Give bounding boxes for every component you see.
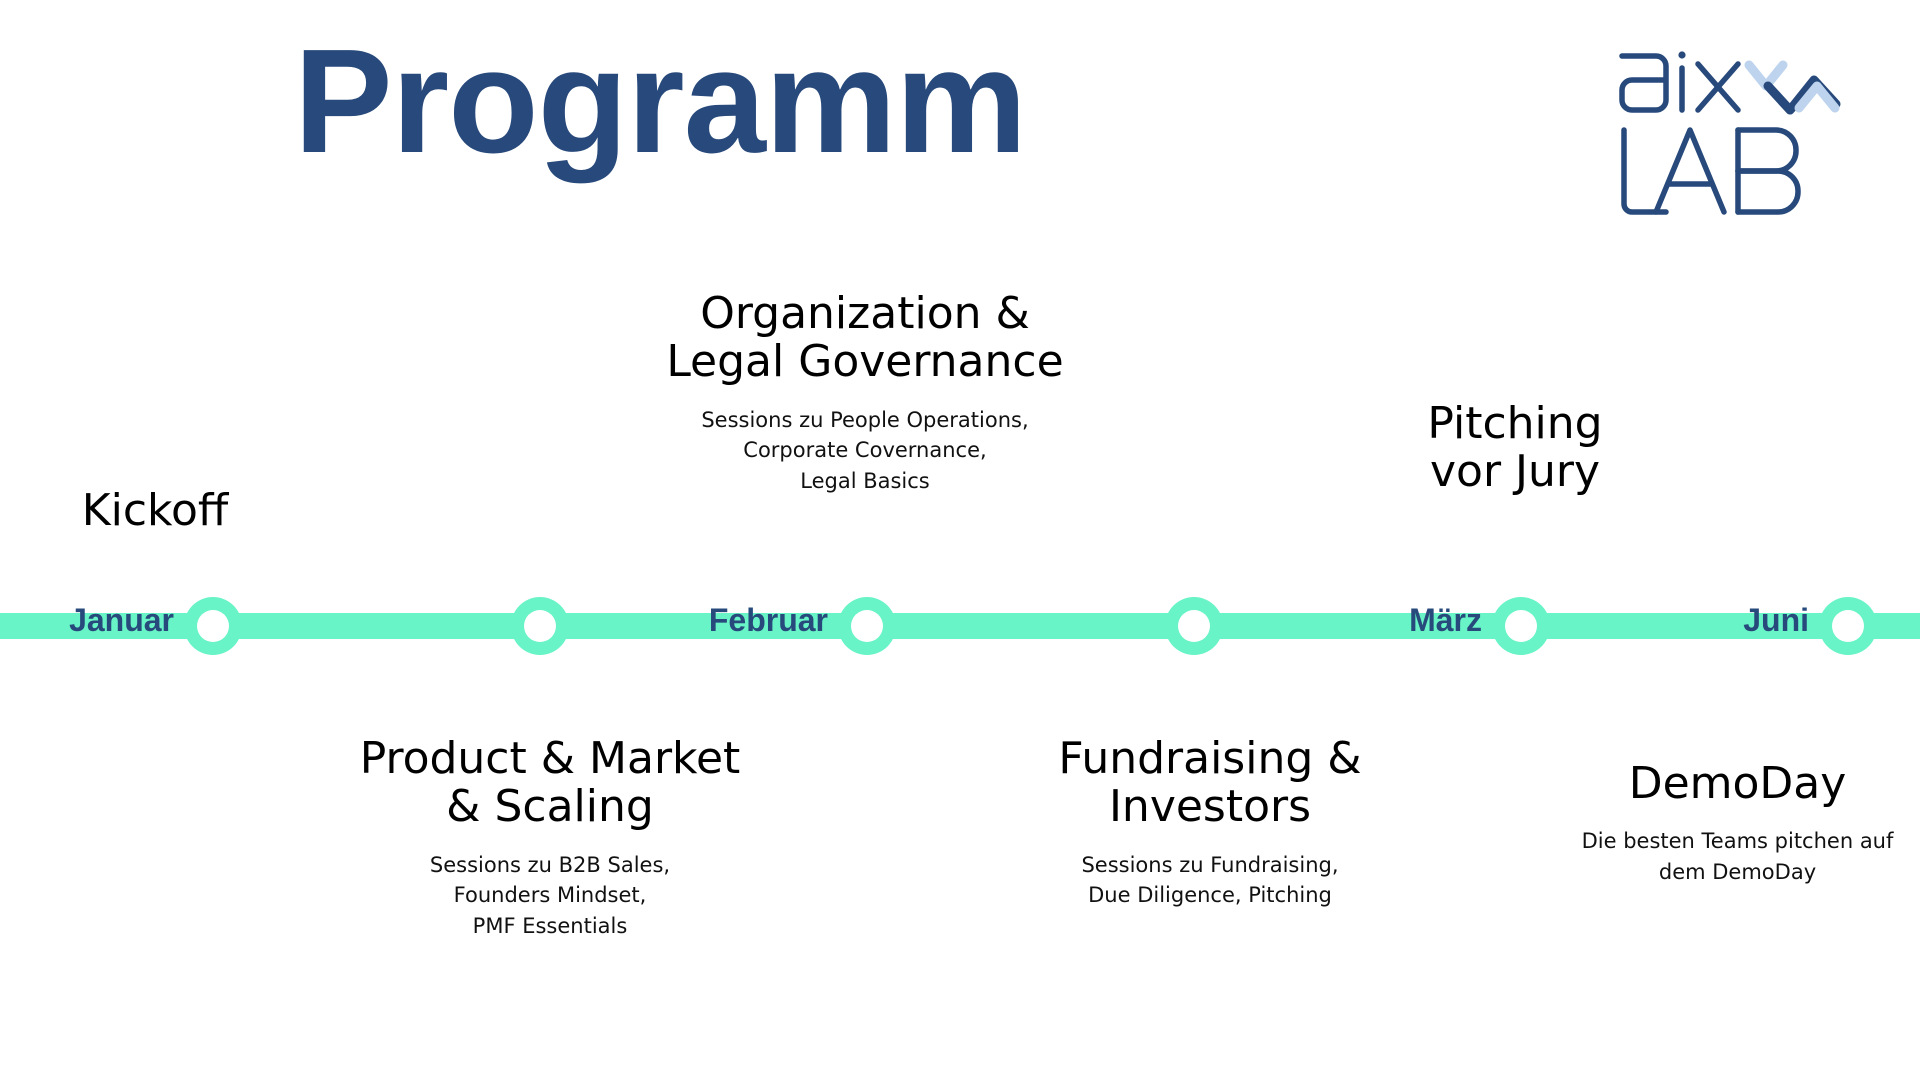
milestone-organization-legal-governance: Organization & Legal Governance Sessions… <box>605 290 1125 496</box>
milestone-organization-subtitle: Sessions zu People Operations, Corporate… <box>605 405 1125 496</box>
aixlab-logo-svg <box>1618 34 1868 224</box>
logo-aix-wordmark <box>1622 56 1738 110</box>
milestone-pitching-vor-jury: Pitching vor Jury <box>1335 400 1695 497</box>
timeline-node-3[interactable] <box>838 597 896 655</box>
timeline-node-1[interactable] <box>184 597 242 655</box>
timeline-node-2[interactable] <box>511 597 569 655</box>
month-label-februar: Februar <box>709 604 836 636</box>
month-label-januar: Januar <box>69 604 182 636</box>
milestone-product-heading: Product & Market & Scaling <box>305 735 795 832</box>
timeline-node-5[interactable] <box>1492 597 1550 655</box>
milestone-organization-heading: Organization & Legal Governance <box>605 290 1125 387</box>
milestone-demoday-heading: DemoDay <box>1555 760 1920 808</box>
milestone-product-market-scaling: Product & Market & Scaling Sessions zu B… <box>305 735 795 941</box>
milestone-demoday-subtitle: Die besten Teams pitchen auf dem DemoDay <box>1555 826 1920 887</box>
month-label-maerz: März <box>1409 604 1490 636</box>
month-label-juni: Juni <box>1743 604 1817 636</box>
timeline-node-4[interactable] <box>1165 597 1223 655</box>
timeline-node-6[interactable] <box>1819 597 1877 655</box>
milestone-demoday: DemoDay Die besten Teams pitchen auf dem… <box>1555 760 1920 887</box>
milestone-fundraising-heading: Fundraising & Investors <box>1000 735 1420 832</box>
milestone-product-subtitle: Sessions zu B2B Sales, Founders Mindset,… <box>305 850 795 941</box>
milestone-fundraising-investors: Fundraising & Investors Sessions zu Fund… <box>1000 735 1420 911</box>
logo-lab-wordmark <box>1624 130 1798 212</box>
logo-chevrons <box>1749 65 1836 110</box>
milestone-pitching-heading: Pitching vor Jury <box>1335 400 1695 497</box>
milestone-kickoff: Kickoff <box>10 487 300 535</box>
aixlab-logo <box>1618 34 1868 224</box>
programm-timeline-slide: Programm <box>0 0 1920 1080</box>
timeline-track <box>0 613 1920 639</box>
milestone-fundraising-subtitle: Sessions zu Fundraising, Due Diligence, … <box>1000 850 1420 911</box>
milestone-kickoff-heading: Kickoff <box>10 487 300 535</box>
page-title: Programm <box>0 28 1320 176</box>
logo-i-dot <box>1678 51 1685 58</box>
